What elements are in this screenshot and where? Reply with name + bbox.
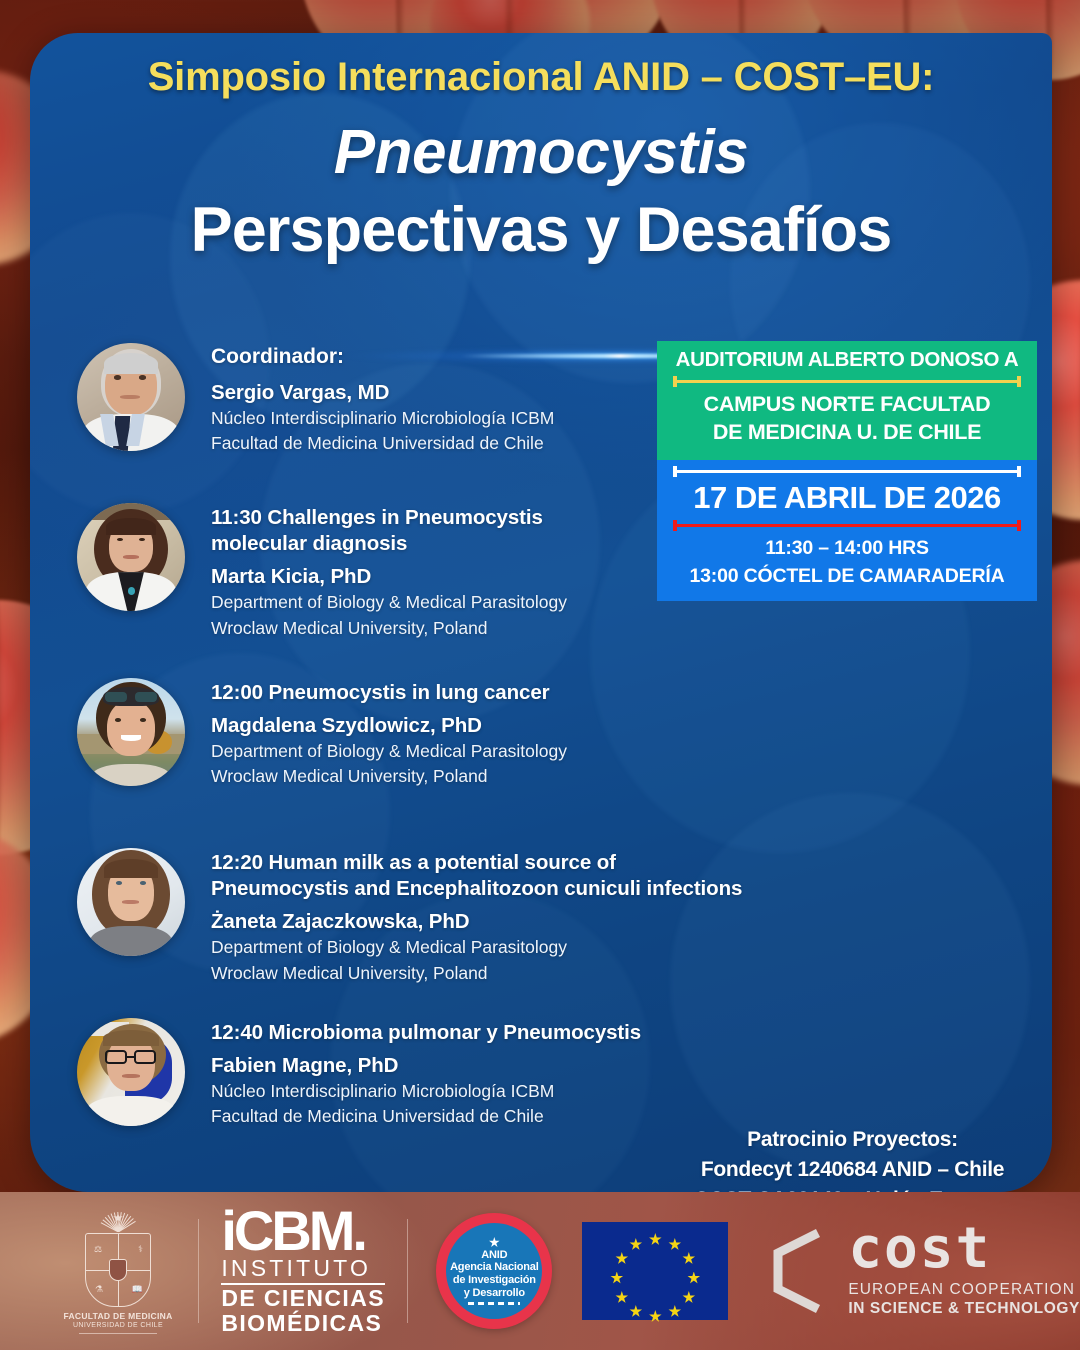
portrait-image <box>77 848 185 956</box>
talk-title-line1: 11:30 Challenges in Pneumocystis <box>211 505 567 531</box>
star-icon <box>682 1252 695 1265</box>
venue-location-panel: AUDITORIUM ALBERTO DONOSO A CAMPUS NORTE… <box>657 341 1037 460</box>
speaker-affiliation-line2: Facultad de Medicina Universidad de Chil… <box>211 432 554 455</box>
avatar-magdalena-szydlowicz <box>77 678 185 786</box>
cost-tagline-line2: IN SCIENCE & TECHNOLOGY <box>848 1300 1080 1318</box>
speaker-info: 12:40 Microbioma pulmonar y Pneumocystis… <box>211 1018 641 1128</box>
anid-line4: y Desarrollo <box>464 1287 525 1300</box>
speaker-affiliation-line2: Wroclaw Medical University, Poland <box>211 617 567 640</box>
speaker-row-marta-kicia: 11:30 Challenges in Pneumocystis molecul… <box>77 503 567 640</box>
logo-anid: ANID Agencia Nacional de Investigación y… <box>436 1213 552 1329</box>
avatar-fabien-magne <box>77 1018 185 1126</box>
speaker-affiliation-line2: Wroclaw Medical University, Poland <box>211 765 567 788</box>
logo-cost: cost EUROPEAN COOPERATION IN SCIENCE & T… <box>760 1224 1080 1317</box>
uchile-faculty-label: FACULTAD DE MEDICINA <box>58 1311 178 1321</box>
star-icon <box>629 1238 642 1251</box>
anid-seal-inner: ANID Agencia Nacional de Investigación y… <box>446 1223 542 1319</box>
cost-wordmark: cost <box>848 1224 1080 1274</box>
avatar-zaneta-zajaczkowska <box>77 848 185 956</box>
event-date: 17 DE ABRIL DE 2026 <box>667 480 1027 516</box>
talk-title-line1: 12:00 Pneumocystis in lung cancer <box>211 680 567 706</box>
sponsorship-line2: COST CA23142 – Unión Europea <box>655 1185 1050 1192</box>
logo-icbm: iCBM. INSTITUTO DE CIENCIAS BIOMÉDICAS <box>221 1205 385 1337</box>
speaker-affiliation-line1: Department of Biology & Medical Parasito… <box>211 936 742 959</box>
speaker-name: Fabien Magne, PhD <box>211 1054 641 1078</box>
speaker-info: 11:30 Challenges in Pneumocystis molecul… <box>211 503 567 640</box>
talk-title-line2: molecular diagnosis <box>211 531 567 557</box>
poster-card: Simposio Internacional ANID – COST–EU: P… <box>30 33 1052 1192</box>
speaker-name: Marta Kicia, PhD <box>211 565 567 589</box>
sponsorship-line1: Fondecyt 1240684 ANID – Chile <box>655 1155 1050 1185</box>
talk-title-line1: 12:20 Human milk as a potential source o… <box>211 850 742 876</box>
speaker-affiliation-line1: Núcleo Interdisciplinario Microbiología … <box>211 407 554 430</box>
logo-european-union-flag <box>582 1222 728 1320</box>
speaker-info: 12:20 Human milk as a potential source o… <box>211 848 742 985</box>
uchile-rule <box>79 1333 157 1334</box>
logo-universidad-de-chile: ⚖ ⚕ ⚗ 📖 FACULTAD DE MEDICINA UNIVERSIDAD… <box>58 1208 178 1334</box>
footer-logo-bar: ⚖ ⚕ ⚗ 📖 FACULTAD DE MEDICINA UNIVERSIDAD… <box>0 1192 1080 1350</box>
venue-campus-line1: CAMPUS NORTE FACULTAD <box>667 390 1027 418</box>
star-icon <box>489 1237 500 1248</box>
avatar-sergio-vargas <box>77 343 185 451</box>
speaker-name: Magdalena Szydlowicz, PhD <box>211 714 567 738</box>
cost-text-block: cost EUROPEAN COOPERATION IN SCIENCE & T… <box>848 1224 1080 1317</box>
star-icon <box>682 1291 695 1304</box>
uchile-university-label: UNIVERSIDAD DE CHILE <box>58 1322 178 1329</box>
portrait-image <box>77 503 185 611</box>
portrait-image <box>77 343 185 451</box>
star-icon <box>649 1310 662 1323</box>
venue-date-panel: 17 DE ABRIL DE 2026 11:30 – 14:00 HRS 13… <box>657 460 1037 602</box>
shield-rays-icon <box>90 1208 146 1232</box>
anid-dashed-rule <box>468 1302 520 1305</box>
poster-title-block: Simposio Internacional ANID – COST–EU: P… <box>30 55 1052 266</box>
speaker-row-magdalena-szydlowicz: 12:00 Pneumocystis in lung cancer Magdal… <box>77 678 567 788</box>
star-icon <box>615 1291 628 1304</box>
title-kicker: Simposio Internacional ANID – COST–EU: <box>30 55 1052 100</box>
divider-yellow <box>669 376 1025 386</box>
title-species: Pneumocystis <box>30 117 1052 188</box>
star-icon <box>668 1305 681 1318</box>
divider-white <box>669 466 1025 476</box>
venue-campus-line2: DE MEDICINA U. DE CHILE <box>667 418 1027 446</box>
star-icon <box>615 1252 628 1265</box>
speaker-info: Coordinador: Sergio Vargas, MD Núcleo In… <box>211 343 554 455</box>
speaker-row-sergio-vargas: Coordinador: Sergio Vargas, MD Núcleo In… <box>77 343 554 455</box>
icbm-line2: DE CIENCIAS <box>221 1286 385 1312</box>
anid-line1: ANID <box>481 1249 507 1262</box>
avatar-marta-kicia <box>77 503 185 611</box>
coordinator-label: Coordinador: <box>211 345 554 369</box>
divider-red <box>669 520 1025 530</box>
star-icon <box>629 1305 642 1318</box>
portrait-image <box>77 678 185 786</box>
speaker-affiliation-line1: Department of Biology & Medical Parasito… <box>211 591 567 614</box>
anid-line3: de Investigación <box>453 1274 536 1287</box>
title-subtitle: Perspectivas y Desafíos <box>30 194 1052 266</box>
icbm-wordmark: iCBM. <box>221 1205 385 1257</box>
sponsorship-block: Patrocinio Proyectos: Fondecyt 1240684 A… <box>655 1125 1050 1192</box>
speaker-row-fabien-magne: 12:40 Microbioma pulmonar y Pneumocystis… <box>77 1018 641 1128</box>
logo-divider <box>407 1219 408 1323</box>
cost-tagline-line1: EUROPEAN COOPERATION <box>848 1281 1080 1299</box>
venue-date-box: AUDITORIUM ALBERTO DONOSO A CAMPUS NORTE… <box>657 341 1037 601</box>
star-icon <box>668 1238 681 1251</box>
speaker-affiliation-line2: Wroclaw Medical University, Poland <box>211 962 742 985</box>
talk-title-line2: Pneumocystis and Encephalitozoon cunicul… <box>211 876 742 902</box>
shield-icon: ⚖ ⚕ ⚗ 📖 <box>85 1233 151 1307</box>
speaker-name: Żaneta Zajaczkowska, PhD <box>211 910 742 934</box>
venue-auditorium: AUDITORIUM ALBERTO DONOSO A <box>667 348 1027 372</box>
icbm-line3: BIOMÉDICAS <box>221 1311 385 1337</box>
speaker-affiliation-line1: Department of Biology & Medical Parasito… <box>211 740 567 763</box>
speaker-affiliation-line1: Núcleo Interdisciplinario Microbiología … <box>211 1080 641 1103</box>
speaker-row-zaneta-zajaczkowska: 12:20 Human milk as a potential source o… <box>77 848 742 985</box>
cost-hexagon-icon <box>760 1227 838 1315</box>
event-time-line1: 11:30 – 14:00 HRS <box>667 534 1027 562</box>
icbm-line1: INSTITUTO <box>221 1256 385 1282</box>
speaker-info: 12:00 Pneumocystis in lung cancer Magdal… <box>211 678 567 788</box>
star-icon <box>687 1272 700 1285</box>
speaker-name: Sergio Vargas, MD <box>211 381 554 405</box>
star-icon <box>610 1272 623 1285</box>
anid-line2: Agencia Nacional <box>450 1261 539 1274</box>
star-icon <box>649 1233 662 1246</box>
event-time-line2: 13:00 CÓCTEL DE CAMARADERÍA <box>667 562 1027 590</box>
logo-divider <box>198 1219 199 1323</box>
portrait-image <box>77 1018 185 1126</box>
speaker-affiliation-line2: Facultad de Medicina Universidad de Chil… <box>211 1105 641 1128</box>
talk-title-line1: 12:40 Microbioma pulmonar y Pneumocystis <box>211 1020 641 1046</box>
sponsorship-heading: Patrocinio Proyectos: <box>655 1125 1050 1155</box>
